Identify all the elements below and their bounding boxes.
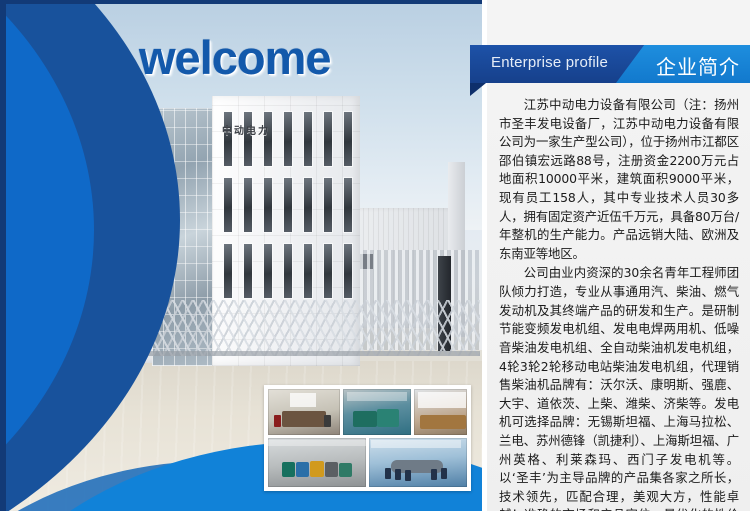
tall-window <box>344 178 352 232</box>
profile-paragraph-1: 江苏中动电力设备有限公司（注：扬州市圣丰发电设备厂，江苏中动电力设备有限公司为一… <box>499 96 739 263</box>
tall-window <box>324 112 332 166</box>
tall-window <box>324 244 332 298</box>
welcome-headline: welcome <box>139 34 331 81</box>
tall-window <box>264 178 272 232</box>
tall-window <box>244 112 252 166</box>
tall-window <box>304 112 312 166</box>
company-profile-text: 江苏中动电力设备有限公司（注：扬州市圣丰发电设备厂，江苏中动电力设备有限公司为一… <box>499 96 739 511</box>
company-profile-banner: 中动电力 江苏中动电力设备有限公司 Zhongdong Power Equipm… <box>0 0 750 511</box>
generator-warehouse-photo <box>268 438 366 487</box>
retractable-factory-gate <box>120 300 480 356</box>
tall-window <box>224 244 232 298</box>
generator-sets-photo <box>343 389 411 435</box>
banner-chinese-label: 企业简介 <box>656 51 740 80</box>
office-meeting-photo <box>268 389 340 435</box>
tall-window <box>264 112 272 166</box>
tall-window <box>344 112 352 166</box>
photo-row-top <box>268 389 467 435</box>
tall-window <box>344 244 352 298</box>
tall-window <box>264 244 272 298</box>
conference-room-photo <box>369 438 467 487</box>
tall-window <box>324 178 332 232</box>
hero-building-photo: 中动电力 江苏中动电力设备有限公司 Zhongdong Power Equipm… <box>0 0 487 511</box>
banner-english-label: Enterprise profile <box>491 54 608 71</box>
showroom-photo <box>414 389 467 435</box>
profile-paragraph-2: 公司由业内资深的30余名青年工程师团队倾力打造，专业从事通用汽、柴油、燃气发动机… <box>499 264 739 511</box>
building-roof-sign: 中动电力 <box>222 122 270 137</box>
tall-window <box>244 244 252 298</box>
tall-window <box>304 178 312 232</box>
tall-window <box>284 244 292 298</box>
left-navy-edge <box>0 0 6 511</box>
enterprise-profile-banner: Enterprise profile 企业简介 <box>470 45 750 83</box>
tall-window <box>224 112 232 166</box>
tall-window <box>244 178 252 232</box>
tall-window <box>304 244 312 298</box>
tall-window <box>284 178 292 232</box>
photo-gallery-strip <box>264 385 471 491</box>
enterprise-profile-panel: Enterprise profile 企业简介 江苏中动电力设备有限公司（注：扬… <box>487 0 750 511</box>
photo-row-bottom <box>268 438 467 487</box>
tall-window <box>224 178 232 232</box>
tall-window <box>284 112 292 166</box>
top-navy-edge <box>0 0 487 4</box>
